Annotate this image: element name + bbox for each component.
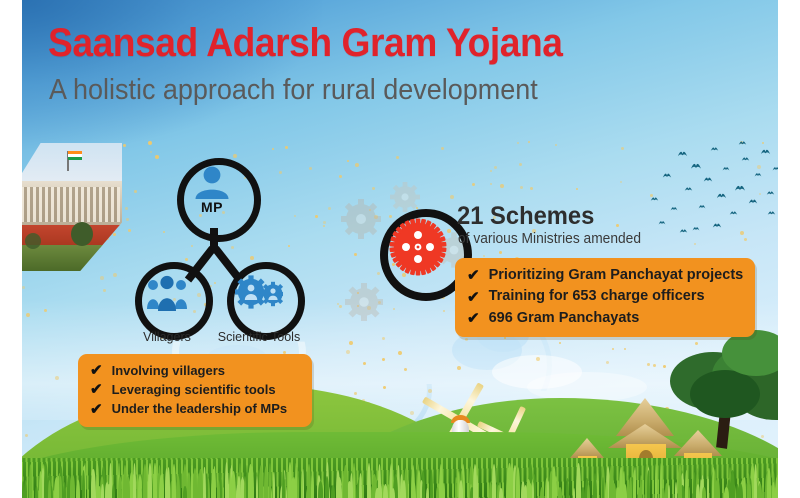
schemes-sublabel: of various Ministries amended [458,231,641,247]
check-icon: ✔ [90,363,103,378]
check-icon: ✔ [90,402,103,417]
list-item: ✔ Under the leadership of MPs [90,399,298,418]
photo-colonnade [22,187,120,223]
person-icon [192,166,232,202]
list-item-label: Training for 653 charge officers [489,286,705,307]
page-title: Saansad Adarsh Gram Yojana [48,21,562,66]
schemes-count: 21 Schemes [457,202,594,231]
page-subtitle: A holistic approach for rural developmen… [49,74,538,107]
list-item: ✔ 696 Gram Panchayats [467,308,741,329]
list-item: ✔ Involving villagers [90,361,298,380]
check-icon: ✔ [467,268,480,283]
ghost-gear-icon [342,280,386,324]
check-icon: ✔ [467,311,480,326]
check-icon: ✔ [90,382,103,397]
scientific-tools-caption: Scientific Tools [207,330,311,344]
list-item-label: 696 Gram Panchayats [489,308,640,329]
gears-with-people-icon [235,275,283,311]
infographic-poster: Saansad Adarsh Gram Yojana A holistic ap… [22,0,778,498]
list-item-label: Leveraging scientific tools [112,380,276,399]
check-icon: ✔ [467,290,480,305]
schemes-callout-box[interactable]: ✔ Prioritizing Gram Panchayat projects ✔… [455,258,755,337]
list-item-label: Involving villagers [112,361,225,380]
group-of-people-icon [145,275,189,313]
approach-callout-box[interactable]: ✔ Involving villagers ✔ Leveraging scien… [78,354,312,427]
indian-flag-icon [68,151,82,160]
list-item-label: Under the leadership of MPs [112,399,288,418]
mp-label: MP [177,199,247,215]
red-gear-icon [386,215,450,279]
photo-tree [25,233,41,249]
list-item: ✔ Leveraging scientific tools [90,380,298,399]
list-item: ✔ Prioritizing Gram Panchayat projects [467,265,741,286]
list-item-label: Prioritizing Gram Panchayat projects [489,265,744,286]
ghost-gear-icon [338,196,384,242]
villagers-caption: Villagers [115,330,219,344]
list-item: ✔ Training for 653 charge officers [467,286,741,307]
